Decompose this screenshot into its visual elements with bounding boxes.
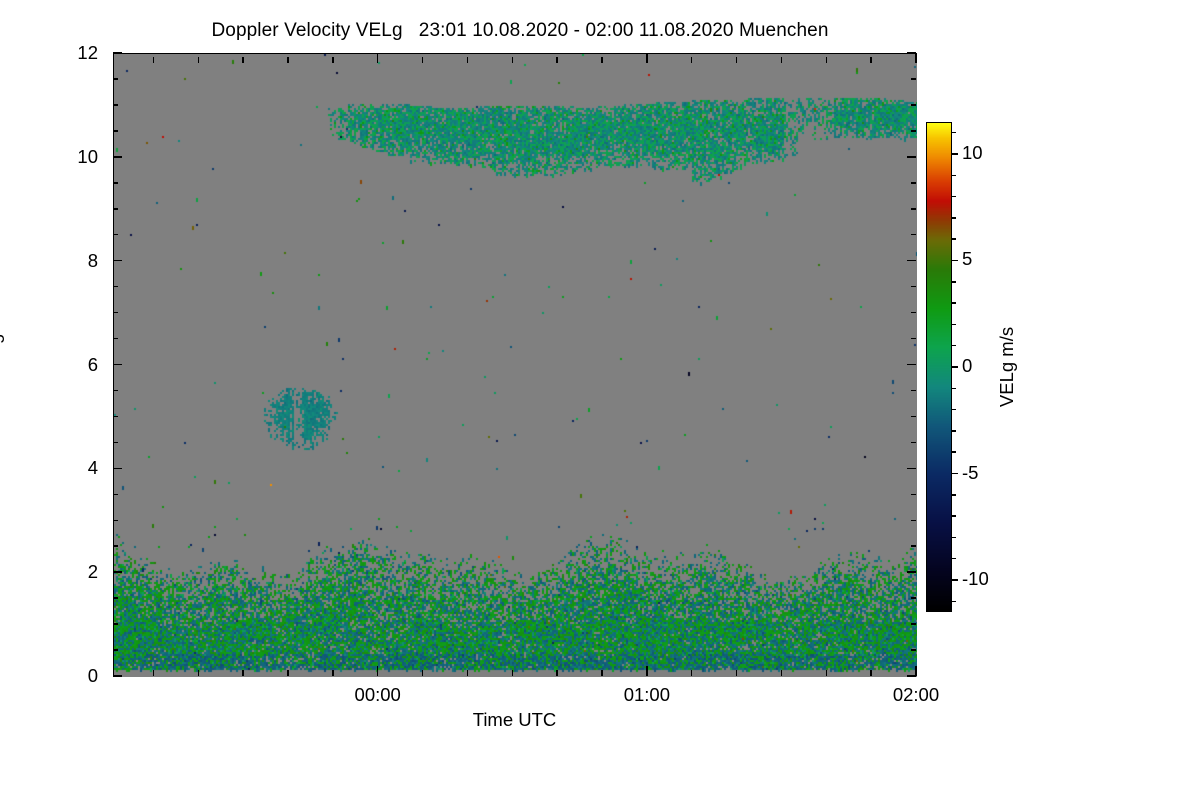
x-tick-label: 01:00 (602, 686, 692, 704)
x-tick-minor (691, 670, 693, 676)
y-tick-minor (113, 649, 118, 651)
x-tick-major (915, 666, 917, 676)
colorbar-tick-minor (952, 409, 956, 411)
colorbar-tick-minor (952, 238, 956, 240)
y-tick-minor (113, 494, 118, 496)
y-tick-major (113, 571, 122, 573)
y-axis-title: Height km (0, 288, 5, 371)
colorbar-tick-minor (952, 217, 956, 219)
y-tick-minor-right (911, 597, 916, 599)
y-tick-major-right (907, 468, 916, 470)
y-tick-major-right (907, 260, 916, 262)
x-tick-minor (332, 670, 334, 676)
colorbar-tick-minor (952, 388, 956, 390)
colorbar-gradient (926, 122, 952, 612)
y-tick-minor-right (911, 338, 916, 340)
x-tick-minor (556, 670, 558, 676)
x-tick-major-top (915, 53, 917, 63)
y-tick-minor-right (911, 416, 916, 418)
y-tick-minor (113, 130, 118, 132)
colorbar-tick-minor (952, 515, 956, 517)
x-tick-minor (601, 670, 603, 676)
colorbar-tick-minor (952, 281, 956, 283)
y-tick-minor (113, 390, 118, 392)
y-tick-minor-right (911, 286, 916, 288)
colorbar-tick-minor (952, 175, 956, 177)
x-tick-minor (467, 670, 469, 676)
x-tick-minor-top (467, 57, 469, 63)
colorbar (926, 122, 952, 612)
colorbar-tick-minor (952, 451, 956, 453)
x-tick-minor (153, 670, 155, 676)
x-tick-major-top (377, 53, 379, 63)
colorbar-tick-minor (952, 601, 956, 603)
y-tick-minor (113, 442, 118, 444)
y-tick-minor (113, 545, 118, 547)
y-tick-major-right (907, 156, 916, 158)
x-tick-minor (736, 670, 738, 676)
x-tick-minor (512, 670, 514, 676)
y-tick-minor (113, 338, 118, 340)
y-tick-minor (113, 623, 118, 625)
colorbar-tick-minor (952, 132, 956, 134)
y-tick-label: 12 (64, 44, 98, 62)
x-tick-minor-top (287, 57, 289, 63)
page-title: Doppler Velocity VELg 23:01 10.08.2020 -… (0, 20, 1040, 42)
x-tick-minor-top (198, 57, 200, 63)
colorbar-tick-major (952, 153, 958, 155)
colorbar-tick-minor (952, 196, 956, 198)
colorbar-tick-minor (952, 324, 956, 326)
radar-heatmap-canvas (114, 54, 917, 677)
colorbar-tick-label: -10 (962, 570, 1022, 588)
x-axis-title: Time UTC (113, 709, 916, 731)
x-tick-minor (242, 670, 244, 676)
colorbar-tick-label: 5 (962, 250, 1022, 268)
colorbar-tick-minor (952, 430, 956, 432)
x-tick-minor-top (870, 57, 872, 63)
colorbar-tick-major (952, 366, 958, 368)
x-tick-minor (287, 670, 289, 676)
x-tick-minor-top (512, 57, 514, 63)
x-tick-label: 00:00 (333, 686, 423, 704)
x-tick-minor-top (422, 57, 424, 63)
y-tick-label: 8 (64, 252, 98, 270)
y-tick-label: 4 (64, 459, 98, 477)
colorbar-tick-major (952, 260, 958, 262)
y-tick-minor (113, 104, 118, 106)
x-tick-major (646, 666, 648, 676)
y-tick-minor-right (911, 494, 916, 496)
y-tick-minor-right (911, 545, 916, 547)
y-tick-minor (113, 312, 118, 314)
y-tick-major-right (907, 571, 916, 573)
y-tick-minor-right (911, 182, 916, 184)
x-tick-minor (826, 670, 828, 676)
y-tick-major (113, 364, 122, 366)
y-tick-minor-right (911, 623, 916, 625)
y-tick-minor (113, 597, 118, 599)
y-tick-major (113, 468, 122, 470)
x-tick-minor (870, 670, 872, 676)
y-tick-major (113, 675, 122, 677)
colorbar-tick-major (952, 473, 958, 475)
x-tick-minor (198, 670, 200, 676)
y-tick-minor-right (911, 390, 916, 392)
y-tick-minor-right (911, 442, 916, 444)
colorbar-tick-label: -5 (962, 464, 1022, 482)
colorbar-tick-minor (952, 558, 956, 560)
y-tick-minor-right (911, 208, 916, 210)
y-tick-minor-right (911, 104, 916, 106)
y-tick-label: 10 (64, 148, 98, 166)
colorbar-tick-minor (952, 537, 956, 539)
y-tick-minor-right (911, 130, 916, 132)
x-tick-minor-top (153, 57, 155, 63)
y-tick-minor-right (911, 234, 916, 236)
y-tick-minor (113, 286, 118, 288)
y-tick-minor-right (911, 649, 916, 651)
colorbar-tick-minor (952, 302, 956, 304)
x-tick-major-top (646, 53, 648, 63)
y-tick-minor (113, 78, 118, 80)
x-tick-minor-top (601, 57, 603, 63)
x-tick-minor (781, 670, 783, 676)
figure-root: Doppler Velocity VELg 23:01 10.08.2020 -… (0, 0, 1200, 800)
x-tick-minor-top (781, 57, 783, 63)
y-tick-minor-right (911, 312, 916, 314)
y-tick-minor (113, 520, 118, 522)
x-tick-major (377, 666, 379, 676)
colorbar-tick-minor (952, 345, 956, 347)
y-tick-minor (113, 182, 118, 184)
y-tick-label: 2 (64, 563, 98, 581)
y-tick-minor (113, 234, 118, 236)
colorbar-title: VELg m/s (996, 327, 1018, 407)
y-tick-label: 0 (64, 667, 98, 685)
y-tick-major (113, 156, 122, 158)
y-tick-major (113, 260, 122, 262)
y-tick-minor (113, 208, 118, 210)
colorbar-tick-minor (952, 494, 956, 496)
colorbar-tick-major (952, 579, 958, 581)
colorbar-tick-label: 10 (962, 144, 1022, 162)
radar-plot-area (113, 53, 916, 676)
x-tick-minor (422, 670, 424, 676)
y-tick-major-right (907, 364, 916, 366)
x-tick-minor-top (332, 57, 334, 63)
x-tick-minor-top (826, 57, 828, 63)
y-tick-label: 6 (64, 356, 98, 374)
y-tick-minor (113, 416, 118, 418)
y-tick-minor-right (911, 520, 916, 522)
x-tick-minor-top (242, 57, 244, 63)
x-tick-minor-top (691, 57, 693, 63)
x-tick-minor-top (556, 57, 558, 63)
y-tick-minor-right (911, 78, 916, 80)
x-tick-minor-top (736, 57, 738, 63)
x-tick-label: 02:00 (871, 686, 961, 704)
y-tick-major (113, 52, 122, 54)
